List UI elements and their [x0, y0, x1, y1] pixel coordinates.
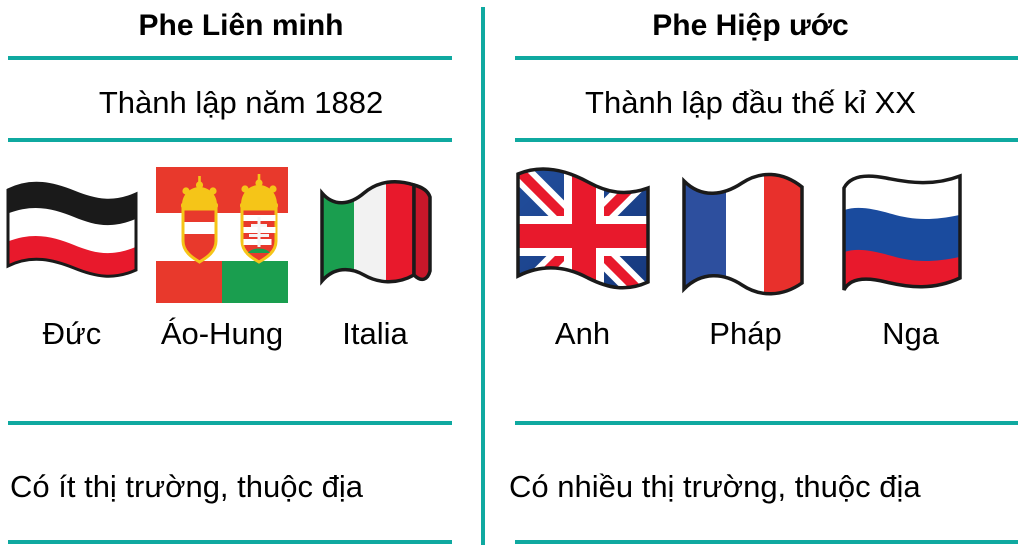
- rule-under-title: [8, 56, 452, 60]
- flag-label: Áo-Hung: [152, 314, 292, 354]
- flag-row: Anh: [483, 160, 1032, 360]
- flag-label: Pháp: [673, 314, 818, 354]
- flag-entry-russia: Nga: [833, 160, 988, 354]
- rule-under-subtitle: [8, 138, 452, 142]
- flag-russia-icon: [833, 160, 988, 310]
- rule-under-subtitle: [515, 138, 1018, 142]
- flag-label: Nga: [833, 314, 988, 354]
- flag-german-empire-icon: [2, 160, 142, 310]
- column-entente-powers: Phe Hiệp ước Thành lập đầu thế kỉ XX: [483, 0, 1032, 555]
- flag-united-kingdom-icon: [505, 160, 660, 310]
- flag-entry-germany: Đức: [2, 160, 142, 354]
- column-footer: Có ít thị trường, thuộc địa: [10, 466, 363, 508]
- flag-entry-austria-hungary: Áo-Hung: [152, 160, 292, 354]
- comparison-diagram: Phe Liên minh Thành lập năm 1882: [0, 0, 1032, 555]
- rule-bottom: [8, 540, 452, 544]
- column-title: Phe Liên minh: [0, 7, 482, 45]
- flag-entry-france: Pháp: [673, 160, 818, 354]
- flag-label: Đức: [2, 314, 142, 354]
- flag-italy-icon: [305, 160, 445, 310]
- rule-under-flags: [8, 421, 452, 425]
- column-subtitle: Thành lập năm 1882: [0, 82, 482, 124]
- column-footer: Có nhiều thị trường, thuộc địa: [509, 466, 921, 508]
- rule-bottom: [515, 540, 1018, 544]
- column-title: Phe Hiệp ước: [483, 7, 1032, 45]
- flag-austria-hungary-icon: [152, 160, 292, 310]
- rule-under-flags: [515, 421, 1018, 425]
- flag-row: Đức: [0, 160, 482, 360]
- column-central-powers: Phe Liên minh Thành lập năm 1882: [0, 0, 482, 555]
- flag-france-icon: [673, 160, 818, 310]
- flag-entry-italy: Italia: [305, 160, 445, 354]
- flag-entry-united-kingdom: Anh: [505, 160, 660, 354]
- rule-under-title: [515, 56, 1018, 60]
- flag-label: Italia: [305, 314, 445, 354]
- flag-label: Anh: [505, 314, 660, 354]
- column-subtitle: Thành lập đầu thế kỉ XX: [483, 82, 1032, 124]
